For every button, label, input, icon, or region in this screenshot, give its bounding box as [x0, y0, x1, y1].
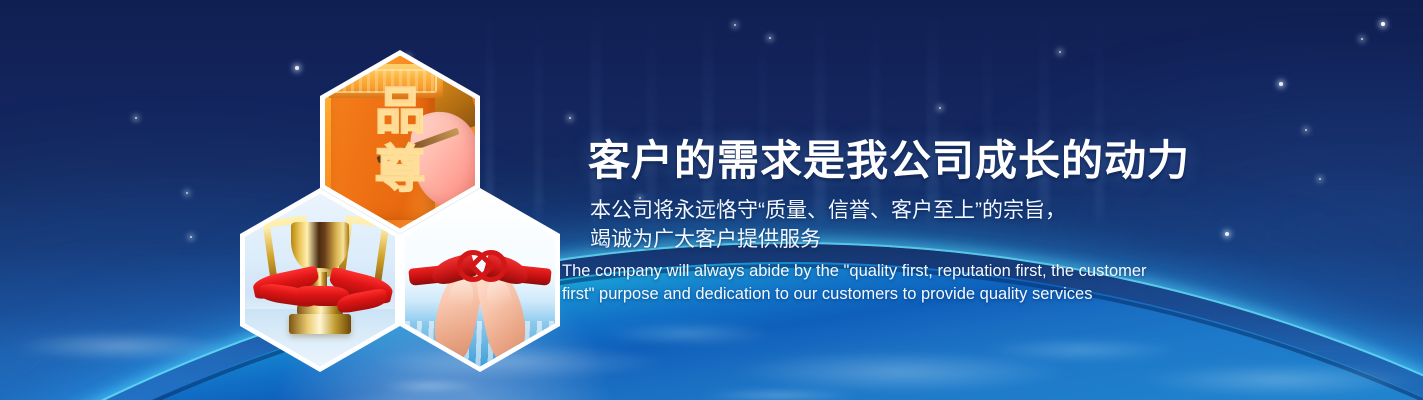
caring-hands-image: [405, 194, 555, 367]
page-title: 客户的需求是我公司成长的动力: [588, 136, 1288, 186]
hexagon-image-cluster: 品 尊: [240, 50, 560, 370]
trophy-image: [245, 194, 395, 367]
seal-characters: 品 尊: [325, 86, 475, 194]
subtitle-en-line1: The company will always abide by the "qu…: [562, 260, 1162, 283]
promo-banner: 品 尊: [0, 0, 1423, 400]
seal-char-1: 品: [325, 86, 475, 136]
subtitle-cn-line1: 本公司将永远恪守“质量、信誉、客户至上”的宗旨，: [590, 196, 1288, 225]
banner-copy: 客户的需求是我公司成长的动力 本公司将永远恪守“质量、信誉、客户至上”的宗旨， …: [588, 136, 1288, 306]
subtitle-cn-line2: 竭诚为广大客户提供服务: [590, 225, 1288, 254]
heart-ribbon-icon: [409, 252, 551, 292]
subtitle-en-line2: first" purpose and dedication to our cus…: [562, 283, 1162, 306]
subtitle-en: The company will always abide by the "qu…: [562, 260, 1162, 306]
seal-carving-image: 品 尊: [325, 56, 475, 229]
seal-char-2: 尊: [325, 144, 475, 194]
trophy-base-lower: [289, 314, 351, 334]
